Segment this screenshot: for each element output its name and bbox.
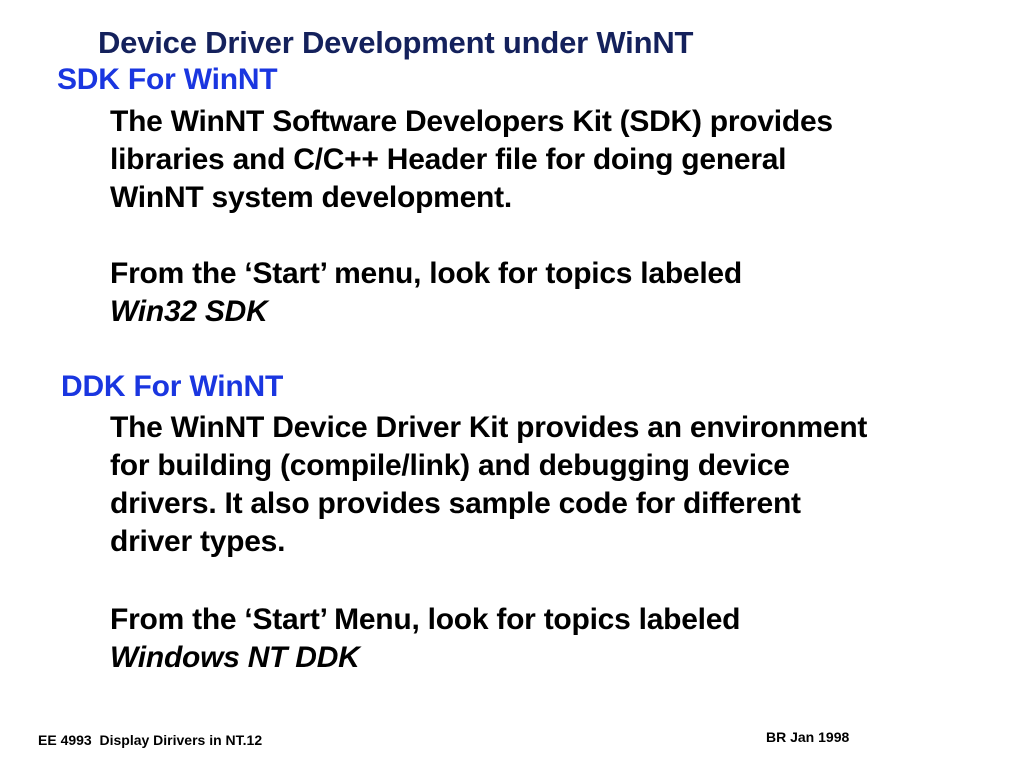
footer-author-date: BR Jan 1998: [766, 729, 849, 745]
section-sdk-paragraph-1: The WinNT Software Developers Kit (SDK) …: [110, 103, 1010, 217]
body-line-emphasis: Windows NT DDK: [110, 639, 1010, 677]
section-heading-sdk: SDK For WinNT: [57, 64, 277, 96]
slide-canvas: Device Driver Development under WinNT SD…: [0, 0, 1024, 768]
body-line: drivers. It also provides sample code fo…: [110, 485, 1010, 523]
footer-course-label: EE 4993 Display Dirivers in NT.12: [38, 732, 262, 748]
body-line: driver types.: [110, 523, 1010, 561]
section-sdk-paragraph-2: From the ‘Start’ menu, look for topics l…: [110, 255, 1010, 331]
body-line: libraries and C/C++ Header file for doin…: [110, 141, 1010, 179]
section-ddk-paragraph-1: The WinNT Device Driver Kit provides an …: [110, 409, 1010, 561]
body-line: From the ‘Start’ menu, look for topics l…: [110, 255, 1010, 293]
section-ddk-paragraph-2: From the ‘Start’ Menu, look for topics l…: [110, 601, 1010, 677]
page-title: Device Driver Development under WinNT: [98, 27, 918, 60]
body-line: WinNT system development.: [110, 179, 1010, 217]
body-line: for building (compile/link) and debuggin…: [110, 447, 1010, 485]
body-line-emphasis: Win32 SDK: [110, 293, 1010, 331]
section-heading-ddk: DDK For WinNT: [61, 371, 283, 403]
body-line: The WinNT Software Developers Kit (SDK) …: [110, 103, 1010, 141]
body-line: The WinNT Device Driver Kit provides an …: [110, 409, 1010, 447]
body-line: From the ‘Start’ Menu, look for topics l…: [110, 601, 1010, 639]
